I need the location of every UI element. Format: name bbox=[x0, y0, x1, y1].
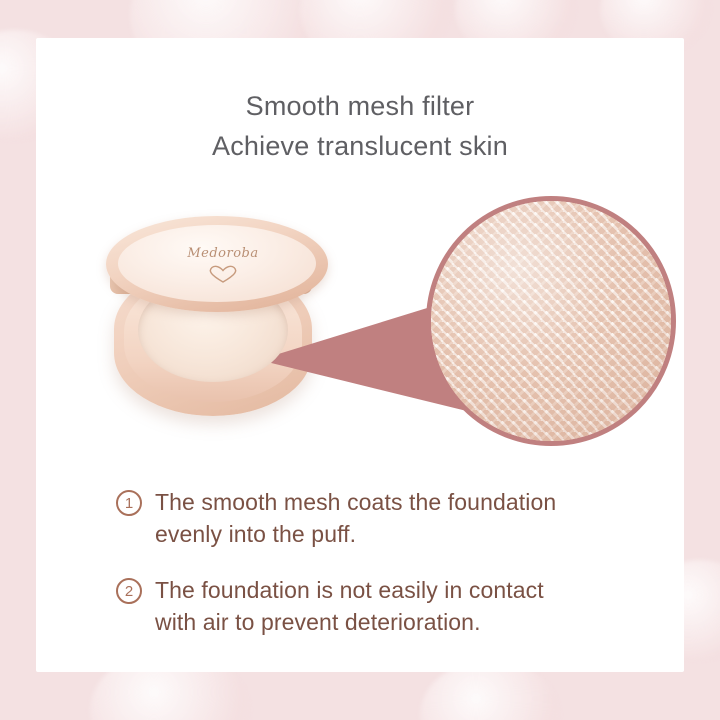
headline-line-2: Achieve translucent skin bbox=[36, 126, 684, 166]
mesh-sheen-overlay bbox=[431, 201, 671, 441]
list-item-line-2: evenly into the puff. bbox=[155, 521, 356, 547]
list-item-line-2: with air to prevent deterioration. bbox=[155, 609, 481, 635]
feature-list: 1 The smooth mesh coats the foundation e… bbox=[116, 486, 636, 662]
brand-script-label: Medoroba bbox=[88, 246, 358, 261]
list-item-line-1: The foundation is not easily in contact bbox=[155, 577, 544, 603]
status-badge: 2 bbox=[116, 578, 142, 604]
heart-emblem-icon bbox=[206, 264, 240, 284]
list-item: 1 The smooth mesh coats the foundation e… bbox=[116, 486, 636, 550]
headline-line-1: Smooth mesh filter bbox=[246, 91, 475, 121]
list-item-line-1: The smooth mesh coats the foundation bbox=[155, 489, 556, 515]
list-item-text: The foundation is not easily in contact … bbox=[155, 574, 544, 638]
mesh-closeup-circle bbox=[426, 196, 676, 446]
page-title: Smooth mesh filter Achieve translucent s… bbox=[36, 86, 684, 166]
list-item-text: The smooth mesh coats the foundation eve… bbox=[155, 486, 556, 550]
status-badge: 1 bbox=[116, 490, 142, 516]
content-card: Smooth mesh filter Achieve translucent s… bbox=[36, 38, 684, 672]
list-item: 2 The foundation is not easily in contac… bbox=[116, 574, 636, 638]
poster-stage: Smooth mesh filter Achieve translucent s… bbox=[0, 0, 720, 720]
